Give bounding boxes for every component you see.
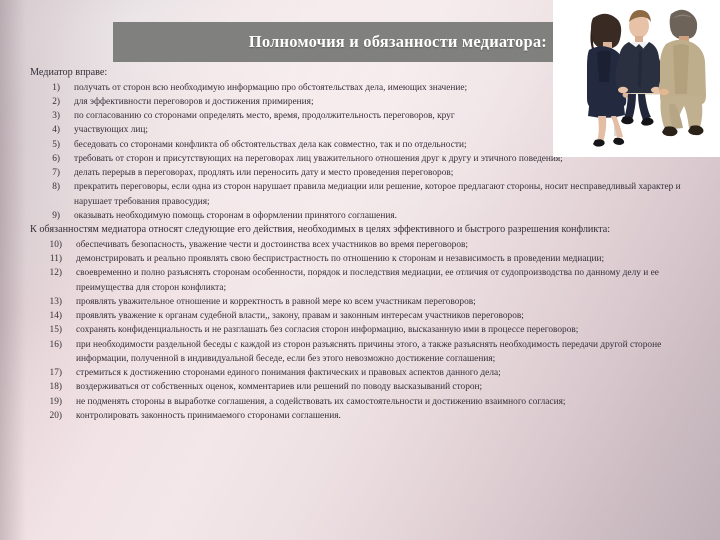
list-item-text: делать перерыв в переговорах, продлять и…	[74, 168, 453, 178]
list-item-text: демонстрировать и реально проявлять свою…	[76, 254, 604, 264]
list-item-text: требовать от сторон и присутствующих на …	[74, 154, 563, 164]
duties-list: 10) обеспечивать безопасность, уважение …	[30, 238, 690, 423]
list-item: 13) проявлять уважительное отношение и к…	[30, 295, 690, 309]
list-item-number: 11)	[30, 252, 62, 266]
list-item-number: 20)	[30, 409, 62, 423]
list-item: 10) обеспечивать безопасность, уважение …	[30, 238, 690, 252]
list-item-text: для эффективности переговоров и достижен…	[74, 97, 314, 107]
presentation-slide: Полномочия и обязанности медиатора:	[0, 0, 720, 540]
list-item-number: 9)	[30, 209, 60, 223]
list-item: 8) прекратить переговоры, если одна из с…	[30, 180, 690, 209]
list-item-text: своевременно и полно разъяснять сторонам…	[76, 268, 659, 292]
list-item-number: 2)	[30, 95, 60, 109]
page-title: Полномочия и обязанности медиатора:	[249, 32, 547, 52]
list-item-number: 4)	[30, 123, 60, 137]
list-item: 19) не подменять стороны в выработке сог…	[30, 395, 690, 409]
list-item-number: 12)	[30, 266, 62, 280]
list-item-number: 1)	[30, 81, 60, 95]
lead-paragraph-duties: К обязанностям медиатора относят следующ…	[30, 223, 690, 238]
list-item-text: получать от сторон всю необходимую инфор…	[74, 83, 467, 93]
list-item-number: 3)	[30, 109, 60, 123]
list-item-text: проявлять уважение к органам судебной вл…	[76, 311, 524, 321]
list-item-text: прекратить переговоры, если одна из стор…	[74, 182, 681, 206]
list-item: 7) делать перерыв в переговорах, продлят…	[30, 166, 690, 180]
mediation-photo	[553, 0, 720, 157]
list-item: 17) стремиться к достижению сторонами ед…	[30, 366, 690, 380]
list-item-number: 17)	[30, 366, 62, 380]
list-item: 16) при необходимости раздельной беседы …	[30, 338, 690, 367]
list-item: 9) оказывать необходимую помощь сторонам…	[30, 209, 690, 223]
list-item-text: участвующих лиц;	[74, 125, 148, 135]
list-item-number: 14)	[30, 309, 62, 323]
list-item-number: 5)	[30, 138, 60, 152]
list-item-number: 15)	[30, 323, 62, 337]
list-item-number: 19)	[30, 395, 62, 409]
list-item-number: 7)	[30, 166, 60, 180]
list-item-text: воздерживаться от собственных оценок, ко…	[76, 382, 482, 392]
list-item-number: 6)	[30, 152, 60, 166]
list-item-text: не подменять стороны в выработке соглаше…	[76, 397, 565, 407]
list-item-number: 8)	[30, 180, 60, 194]
list-item: 18) воздерживаться от собственных оценок…	[30, 380, 690, 394]
list-item-text: оказывать необходимую помощь сторонам в …	[74, 211, 397, 221]
list-item-text: сохранять конфиденциальность и не разгла…	[76, 325, 578, 335]
mediation-photo-graphic	[553, 0, 720, 157]
list-item: 12) своевременно и полно разъяснять стор…	[30, 266, 690, 295]
list-item-number: 18)	[30, 380, 62, 394]
list-item: 11) демонстрировать и реально проявлять …	[30, 252, 690, 266]
list-item: 15) сохранять конфиденциальность и не ра…	[30, 323, 690, 337]
list-item-text: по согласованию со сторонами определять …	[74, 111, 455, 121]
list-item-text: обеспечивать безопасность, уважение чест…	[76, 240, 468, 250]
list-item-number: 10)	[30, 238, 62, 252]
list-item-text: беседовать со сторонами конфликта об обс…	[74, 140, 467, 150]
list-item-number: 16)	[30, 338, 62, 352]
list-item-text: при необходимости раздельной беседы с ка…	[76, 340, 661, 364]
list-item: 20) контролировать законность принимаемо…	[30, 409, 690, 423]
slide-title-bar: Полномочия и обязанности медиатора:	[113, 22, 553, 62]
list-item-text: контролировать законность принимаемого с…	[76, 411, 341, 421]
list-item-number: 13)	[30, 295, 62, 309]
list-item: 14) проявлять уважение к органам судебно…	[30, 309, 690, 323]
list-item-text: стремиться к достижению сторонами единог…	[76, 368, 501, 378]
list-item-text: проявлять уважительное отношение и корре…	[76, 297, 476, 307]
